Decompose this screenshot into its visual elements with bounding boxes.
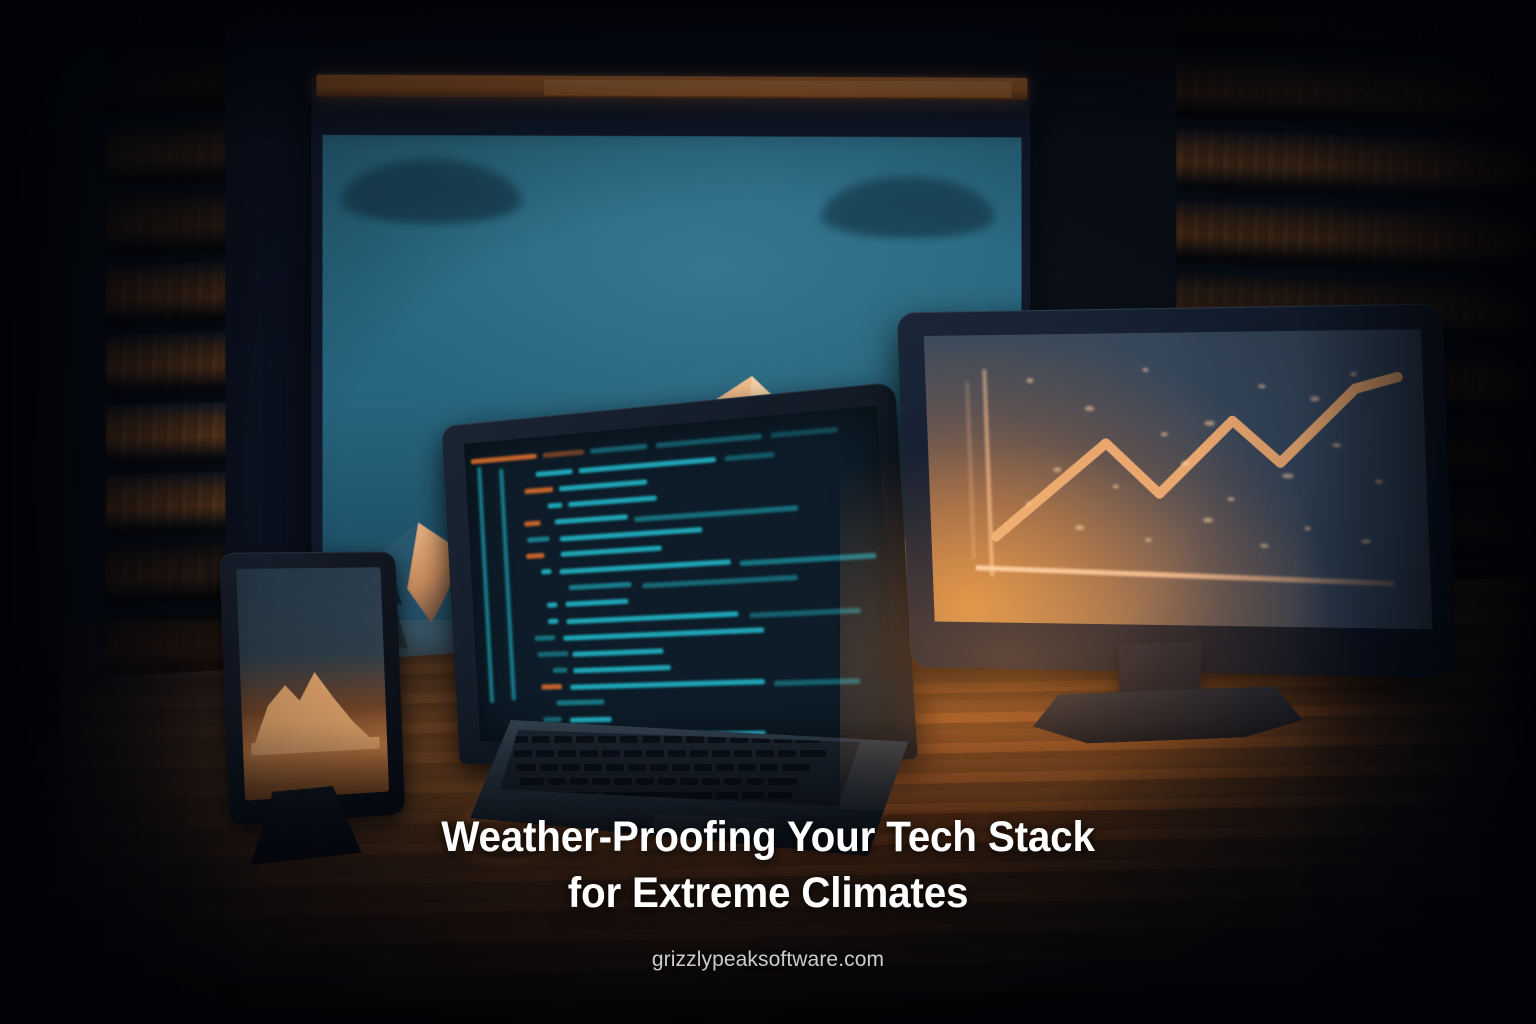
window-frame-top-highlight bbox=[544, 80, 1012, 98]
mountain-peak-logo-icon bbox=[239, 630, 388, 761]
laptop-trackpad[interactable] bbox=[648, 814, 770, 856]
cloud-right-lower bbox=[843, 199, 982, 235]
monitor-bezel bbox=[897, 304, 1456, 679]
monitor-screen-chart[interactable] bbox=[924, 329, 1433, 629]
tablet-device[interactable] bbox=[219, 551, 405, 826]
tablet-screen[interactable] bbox=[236, 567, 389, 800]
scene-canvas: Weather-Proofing Your Tech Stack for Ext… bbox=[0, 0, 1536, 1024]
cloud-left-lower bbox=[358, 183, 509, 222]
laptop-screen-code-editor[interactable] bbox=[464, 406, 897, 742]
laptop-device[interactable] bbox=[452, 424, 922, 844]
external-monitor[interactable] bbox=[897, 292, 1443, 742]
laptop-lid bbox=[442, 382, 918, 764]
